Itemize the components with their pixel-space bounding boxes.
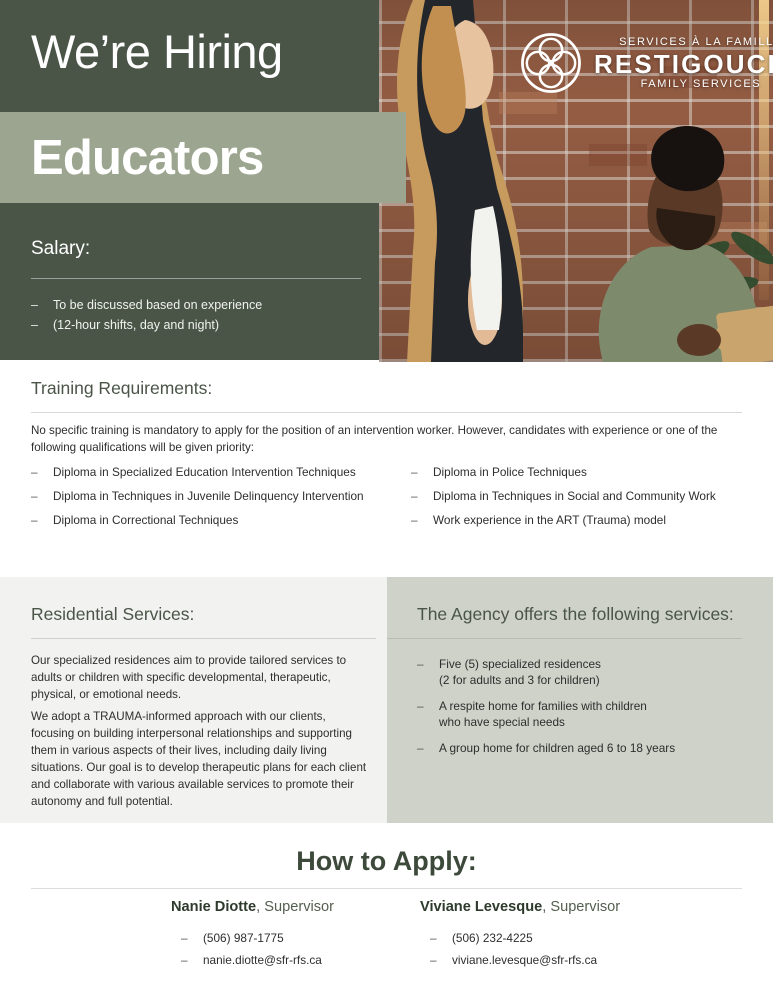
training-list-left: Diploma in Specialized Education Interve… (31, 464, 411, 536)
residential-services-section: Residential Services: Our specialized re… (0, 577, 387, 823)
list-item: Five (5) specialized residences(2 for ad… (417, 656, 757, 688)
list-item: A respite home for families with childre… (417, 698, 757, 730)
residential-heading: Residential Services: (31, 604, 194, 625)
agency-divider (387, 638, 742, 639)
agency-heading: The Agency offers the following services… (417, 604, 734, 625)
list-item: Diploma in Techniques in Social and Comm… (411, 488, 742, 505)
hero-photo: SERVICES À LA FAMILLE RESTIGOUCHE FAMILY… (379, 0, 773, 362)
page-title: We’re Hiring (31, 24, 283, 79)
logo-tagline-top: SERVICES À LA FAMILLE (594, 37, 773, 48)
logo-tagline-bottom: FAMILY SERVICES (594, 79, 773, 90)
contact-card: Nanie Diotte, Supervisor (506) 987-1775 … (171, 899, 416, 971)
contact-person-role: , Supervisor (256, 899, 334, 915)
list-item: Work experience in the ART (Trauma) mode… (411, 512, 742, 529)
agency-services-section: The Agency offers the following services… (387, 577, 773, 823)
apply-divider (31, 888, 742, 889)
residential-paragraph-2: We adopt a TRAUMA-informed approach with… (31, 708, 371, 810)
list-item: (12-hour shifts, day and night) (31, 315, 361, 335)
list-item: Diploma in Specialized Education Interve… (31, 464, 411, 481)
contact-name-line: Viviane Levesque, Supervisor (420, 899, 665, 915)
contact-email[interactable]: viviane.levesque@sfr-rfs.ca (420, 949, 665, 971)
agency-services-list: Five (5) specialized residences(2 for ad… (417, 656, 757, 766)
contact-name-line: Nanie Diotte, Supervisor (171, 899, 416, 915)
training-columns: Diploma in Specialized Education Interve… (31, 464, 742, 536)
logo-wordmark: RESTIGOUCHE (594, 51, 773, 77)
how-to-apply-section: How to Apply: Nanie Diotte, Supervisor (… (0, 823, 773, 1000)
contact-person-role: , Supervisor (542, 899, 620, 915)
list-item: Diploma in Techniques in Juvenile Delinq… (31, 488, 411, 505)
apply-heading: How to Apply: (0, 846, 773, 877)
job-posting-poster: SERVICES À LA FAMILLE RESTIGOUCHE FAMILY… (0, 0, 773, 1000)
person-seated-right (549, 112, 773, 362)
contact-details: (506) 987-1775 nanie.diotte@sfr-rfs.ca (171, 927, 416, 971)
contact-phone[interactable]: (506) 232-4225 (420, 927, 665, 949)
residential-paragraph-1: Our specialized residences aim to provid… (31, 652, 371, 703)
residential-divider (31, 638, 376, 639)
job-role-title: Educators (31, 130, 263, 186)
contact-list: Nanie Diotte, Supervisor (506) 987-1775 … (31, 899, 742, 971)
list-item: Diploma in Police Techniques (411, 464, 742, 481)
contact-card: Viviane Levesque, Supervisor (506) 232-4… (420, 899, 665, 971)
list-item: A group home for children aged 6 to 18 y… (417, 740, 757, 756)
list-item: Diploma in Correctional Techniques (31, 512, 411, 529)
training-heading: Training Requirements: (31, 378, 212, 399)
contact-person-name: Viviane Levesque (420, 899, 542, 915)
list-item: To be discussed based on experience (31, 295, 361, 315)
training-divider (31, 412, 742, 413)
salary-divider (31, 278, 361, 279)
contact-details: (506) 232-4225 viviane.levesque@sfr-rfs.… (420, 927, 665, 971)
salary-list: To be discussed based on experience (12-… (31, 295, 361, 335)
contact-phone[interactable]: (506) 987-1775 (171, 927, 416, 949)
training-list-right: Diploma in Police Techniques Diploma in … (411, 464, 742, 536)
salary-heading: Salary: (31, 238, 361, 260)
restigouche-logo: SERVICES À LA FAMILLE RESTIGOUCHE FAMILY… (520, 32, 773, 94)
training-intro-text: No specific training is mandatory to app… (31, 422, 742, 456)
contact-person-name: Nanie Diotte (171, 899, 256, 915)
restigouche-clover-emblem (520, 32, 582, 94)
salary-section: Salary: To be discussed based on experie… (31, 238, 361, 335)
contact-email[interactable]: nanie.diotte@sfr-rfs.ca (171, 949, 416, 971)
training-requirements-section: Training Requirements: No specific train… (0, 360, 773, 577)
